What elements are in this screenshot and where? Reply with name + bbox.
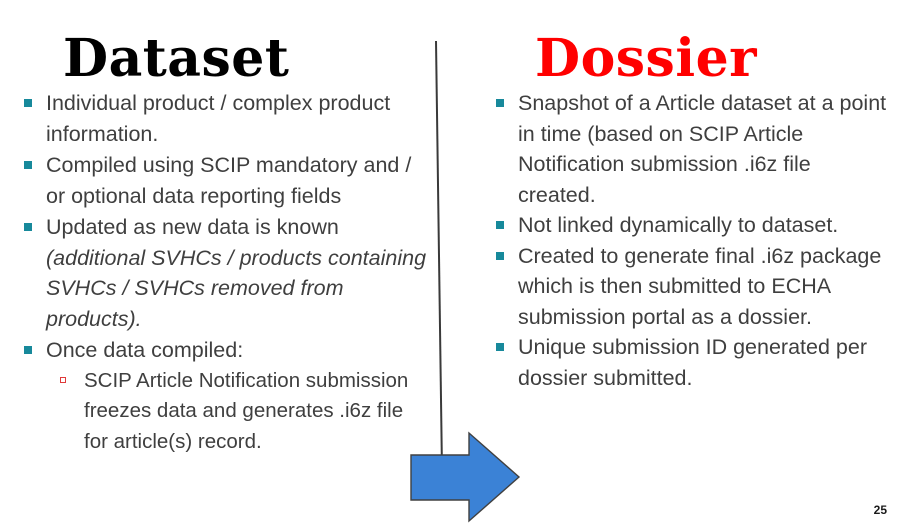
square-bullet-icon — [496, 252, 504, 260]
column-divider — [435, 41, 442, 455]
bullet-text: Updated as new data is known — [46, 215, 339, 239]
sub-bullet-text: SCIP Article Notification submission fre… — [84, 369, 408, 453]
square-bullet-icon — [24, 223, 32, 231]
right-arrow-icon — [409, 430, 521, 525]
bullet-text: Individual product / complex product inf… — [46, 91, 390, 146]
bullet-text: Snapshot of a Article dataset at a point… — [518, 91, 886, 207]
square-bullet-icon — [24, 346, 32, 354]
list-item: Compiled using SCIP mandatory and / or o… — [8, 150, 428, 211]
list-item: Created to generate final .i6z package w… — [480, 241, 890, 333]
square-bullet-icon — [24, 161, 32, 169]
bullet-text: Once data compiled: — [46, 338, 243, 362]
list-item: Snapshot of a Article dataset at a point… — [480, 88, 890, 210]
dossier-heading: Dossier — [535, 0, 890, 88]
bullet-text: Created to generate final .i6z package w… — [518, 244, 881, 329]
dataset-bullet-list: Individual product / complex product inf… — [8, 88, 428, 457]
list-item: Individual product / complex product inf… — [8, 88, 428, 149]
bullet-text: Unique submission ID generated per dossi… — [518, 335, 867, 390]
hollow-square-bullet-icon — [60, 377, 66, 383]
right-column: Dossier Snapshot of a Article dataset at… — [480, 0, 890, 393]
bullet-text-italic: (additional SVHCs / products containing … — [46, 246, 426, 331]
dossier-bullet-list: Snapshot of a Article dataset at a point… — [480, 88, 890, 393]
list-item: Not linked dynamically to dataset. — [480, 210, 890, 241]
square-bullet-icon — [496, 343, 504, 351]
list-item: Once data compiled: SCIP Article Notific… — [8, 335, 428, 457]
dataset-heading: Dataset — [63, 0, 428, 88]
bullet-text: Compiled using SCIP mandatory and / or o… — [46, 153, 411, 208]
page-number: 25 — [874, 503, 887, 517]
list-item: Updated as new data is known (additional… — [8, 212, 428, 334]
square-bullet-icon — [496, 99, 504, 107]
square-bullet-icon — [24, 99, 32, 107]
dataset-sub-bullet-list: SCIP Article Notification submission fre… — [46, 366, 428, 458]
bullet-text: Not linked dynamically to dataset. — [518, 213, 838, 237]
left-column: Dataset Individual product / complex pro… — [8, 0, 428, 458]
slide-canvas: Dataset Individual product / complex pro… — [0, 0, 897, 525]
list-item: SCIP Article Notification submission fre… — [46, 366, 428, 458]
square-bullet-icon — [496, 221, 504, 229]
list-item: Unique submission ID generated per dossi… — [480, 332, 890, 393]
